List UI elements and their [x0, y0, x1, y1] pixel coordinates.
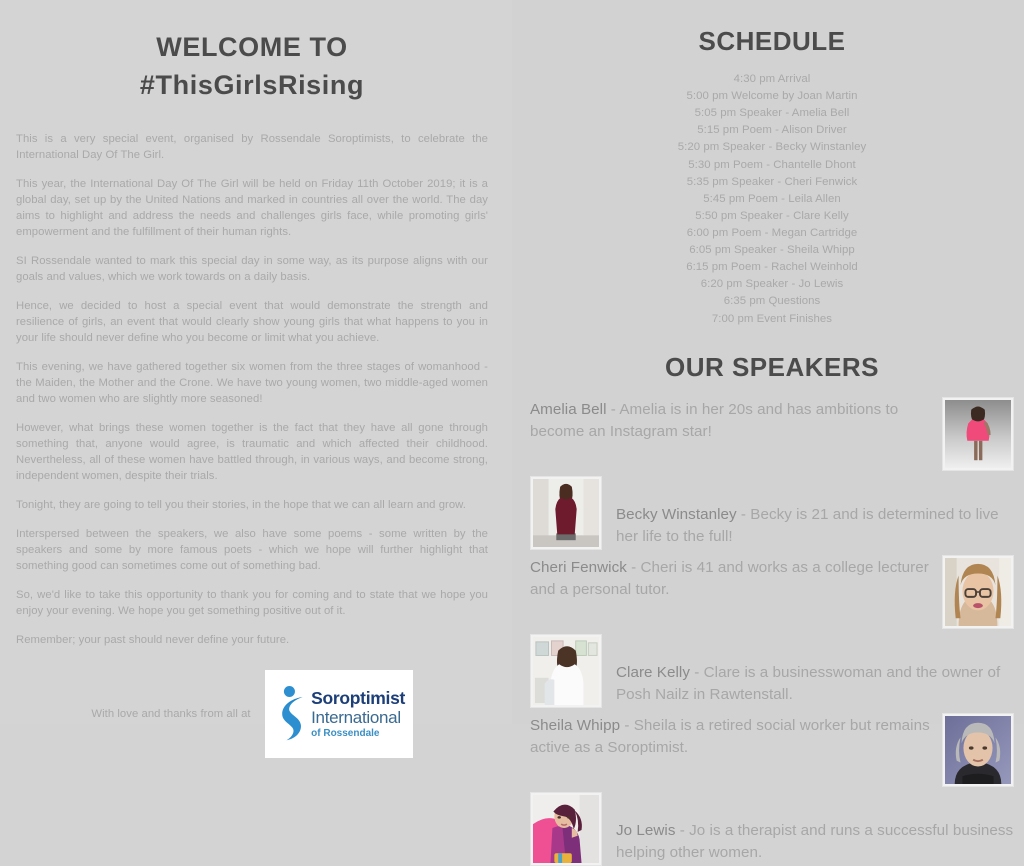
- schedule-item: 5:50 pm Speaker - Clare Kelly: [530, 208, 1014, 225]
- portrait-thumbnail-icon: [945, 400, 1011, 468]
- speaker-name: Jo Lewis: [616, 822, 676, 839]
- signoff-text: With love and thanks from all at: [91, 708, 250, 720]
- intro-paragraph: This is a very special event, organised …: [16, 131, 488, 163]
- soroptimist-logo: Soroptimist International of Rossendale: [265, 670, 413, 758]
- schedule-item: 7:00 pm Event Finishes: [530, 311, 1014, 328]
- logo-word-soroptimist: Soroptimist: [311, 690, 405, 708]
- speaker-photo-clare-kelly: [530, 634, 602, 708]
- speaker-description: Clare Kelly - Clare is a businesswoman a…: [616, 634, 1014, 706]
- speaker-description: Jo Lewis - Jo is a therapist and runs a …: [616, 792, 1014, 864]
- soroptimist-figure-icon: [272, 684, 306, 744]
- schedule-item: 5:35 pm Speaker - Cheri Fenwick: [530, 174, 1014, 191]
- portrait-thumbnail-icon: [533, 637, 599, 705]
- page-title: WELCOME TO #ThisGirlsRising: [14, 28, 490, 105]
- schedule-list: 4:30 pm Arrival 5:00 pm Welcome by Joan …: [530, 71, 1014, 328]
- left-column: WELCOME TO #ThisGirlsRising This is a ve…: [0, 0, 512, 724]
- speaker-photo-cheri-fenwick: [942, 555, 1014, 629]
- schedule-item: 6:00 pm Poem - Megan Cartridge: [530, 225, 1014, 242]
- speaker-photo-amelia-bell: [942, 397, 1014, 471]
- event-programme-page: WELCOME TO #ThisGirlsRising This is a ve…: [0, 0, 1024, 724]
- logo-word-of-rossendale: of Rossendale: [311, 729, 405, 739]
- portrait-thumbnail-icon: [945, 558, 1011, 626]
- portrait-thumbnail-icon: [533, 479, 599, 547]
- intro-paragraph: This evening, we have gathered together …: [16, 359, 488, 407]
- intro-paragraph: Interspersed between the speakers, we al…: [16, 526, 488, 574]
- schedule-item: 6:20 pm Speaker - Jo Lewis: [530, 276, 1014, 293]
- speaker-description: Cheri Fenwick - Cheri is 41 and works as…: [530, 555, 932, 601]
- schedule-item: 6:35 pm Questions: [530, 293, 1014, 310]
- speaker-entry: Jo Lewis - Jo is a therapist and runs a …: [530, 792, 1014, 866]
- intro-paragraph: So, we'd like to take this opportunity t…: [16, 587, 488, 619]
- schedule-item: 4:30 pm Arrival: [530, 71, 1014, 88]
- intro-paragraph: This year, the International Day Of The …: [16, 176, 488, 240]
- intro-paragraph: SI Rossendale wanted to mark this specia…: [16, 253, 488, 285]
- speaker-photo-jo-lewis: [530, 792, 602, 866]
- speaker-description: Becky Winstanley - Becky is 21 and is de…: [616, 476, 1014, 548]
- schedule-item: 6:05 pm Speaker - Sheila Whipp: [530, 242, 1014, 259]
- speaker-name: Becky Winstanley: [616, 506, 737, 523]
- portrait-thumbnail-icon: [533, 795, 599, 863]
- speakers-title: OUR SPEAKERS: [530, 352, 1014, 383]
- speaker-name: Clare Kelly: [616, 664, 690, 681]
- intro-paragraph: Hence, we decided to host a special even…: [16, 298, 488, 346]
- logo-word-international: International: [311, 709, 405, 726]
- speaker-description: Amelia Bell - Amelia is in her 20s and h…: [530, 397, 932, 443]
- intro-paragraph: Remember; your past should never define …: [16, 632, 488, 648]
- welcome-line-2: #ThisGirlsRising: [24, 66, 480, 104]
- speaker-bio: - Jo is a therapist and runs a successfu…: [616, 822, 1013, 861]
- portrait-thumbnail-icon: [945, 716, 1011, 784]
- speaker-entry: Amelia Bell - Amelia is in her 20s and h…: [530, 397, 1014, 471]
- right-column: SCHEDULE 4:30 pm Arrival 5:00 pm Welcome…: [512, 0, 1024, 724]
- schedule-item: 6:15 pm Poem - Rachel Weinhold: [530, 259, 1014, 276]
- speaker-entry: Clare Kelly - Clare is a businesswoman a…: [530, 634, 1014, 708]
- signoff-row: With love and thanks from all at Soropti…: [14, 670, 490, 758]
- schedule-item: 5:05 pm Speaker - Amelia Bell: [530, 105, 1014, 122]
- intro-paragraph: Tonight, they are going to tell you thei…: [16, 497, 488, 513]
- schedule-item: 5:20 pm Speaker - Becky Winstanley: [530, 139, 1014, 156]
- speakers-list: Amelia Bell - Amelia is in her 20s and h…: [530, 397, 1014, 866]
- schedule-item: 5:15 pm Poem - Alison Driver: [530, 122, 1014, 139]
- speaker-description: Sheila Whipp - Sheila is a retired socia…: [530, 713, 932, 759]
- schedule-item: 5:00 pm Welcome by Joan Martin: [530, 88, 1014, 105]
- speaker-name: Amelia Bell: [530, 401, 607, 418]
- speaker-entry: Cheri Fenwick - Cheri is 41 and works as…: [530, 555, 1014, 629]
- speaker-entry: Becky Winstanley - Becky is 21 and is de…: [530, 476, 1014, 550]
- schedule-title: SCHEDULE: [530, 26, 1014, 57]
- speaker-name: Sheila Whipp: [530, 717, 620, 734]
- speaker-photo-becky-winstanley: [530, 476, 602, 550]
- intro-paragraph: However, what brings these women togethe…: [16, 420, 488, 484]
- intro-body-copy: This is a very special event, organised …: [14, 131, 490, 649]
- schedule-item: 5:30 pm Poem - Chantelle Dhont: [530, 157, 1014, 174]
- speaker-name: Cheri Fenwick: [530, 559, 627, 576]
- welcome-line-1: WELCOME TO: [156, 32, 348, 62]
- schedule-item: 5:45 pm Poem - Leila Allen: [530, 191, 1014, 208]
